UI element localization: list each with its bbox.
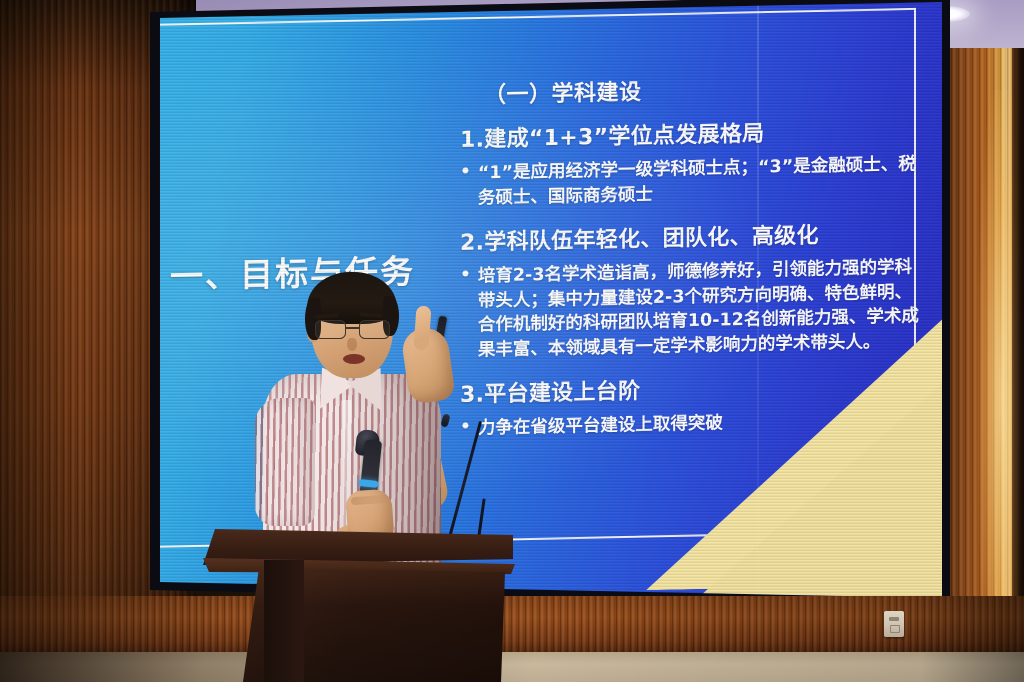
slide-block-3-bullet-text: 力争在省级平台建设上取得突破 xyxy=(478,407,920,441)
conference-room-photo: 一、目标与任务 （一）学科建设 1.建成“1+3”学位点发展格局 • “1”是应… xyxy=(0,0,1024,682)
presenter-left-sleeve xyxy=(255,398,315,526)
presenter-raised-finger xyxy=(413,306,431,351)
slide-block-2: 2.学科队伍年轻化、团队化、高级化 • 培育2-3名学术造诣高，师德修养好，引领… xyxy=(460,215,920,363)
slide-block-2-heading: 2.学科队伍年轻化、团队化、高级化 xyxy=(460,215,920,257)
presenter-nose xyxy=(347,338,357,351)
slide-block-1: 1.建成“1+3”学位点发展格局 • “1”是应用经济学一级学科硕士点；“3”是… xyxy=(460,112,920,211)
podium-side-panel xyxy=(264,560,304,682)
slide-block-1-bullet: • “1”是应用经济学一级学科硕士点；“3”是金融硕士、税务硕士、国际商务硕士 xyxy=(460,152,920,211)
power-outlet-right-icon xyxy=(884,611,904,637)
right-wall-edge xyxy=(1012,48,1024,682)
slide-block-1-bullet-text: “1”是应用经济学一级学科硕士点；“3”是金融硕士、税务硕士、国际商务硕士 xyxy=(478,152,920,210)
presenter-mouth xyxy=(343,354,365,364)
slide-block-2-bullet: • 培育2-3名学术造诣高，师德修养好，引领能力强的学科带头人；集中力量建设2-… xyxy=(460,255,920,363)
slide-block-2-bullet-text: 培育2-3名学术造诣高，师德修养好，引领能力强的学科带头人；集中力量建设2-3个… xyxy=(478,255,920,362)
slide-block-1-heading: 1.建成“1+3”学位点发展格局 xyxy=(460,112,920,154)
bullet-marker-icon: • xyxy=(460,162,471,211)
slide-block-3-bullet: • 力争在省级平台建设上取得突破 xyxy=(460,407,920,441)
wall-panel-shading xyxy=(0,596,1024,656)
slide-block-3: 3.平台建设上台阶 • 力争在省级平台建设上取得突破 xyxy=(460,367,920,441)
slide-body-column: （一）学科建设 1.建成“1+3”学位点发展格局 • “1”是应用经济学一级学科… xyxy=(460,68,920,455)
eyeglasses-icon xyxy=(313,320,393,340)
slide-block-3-heading: 3.平台建设上台阶 xyxy=(460,367,920,409)
floor-shading xyxy=(0,652,1024,682)
slide-heading: （一）学科建设 xyxy=(484,68,920,109)
